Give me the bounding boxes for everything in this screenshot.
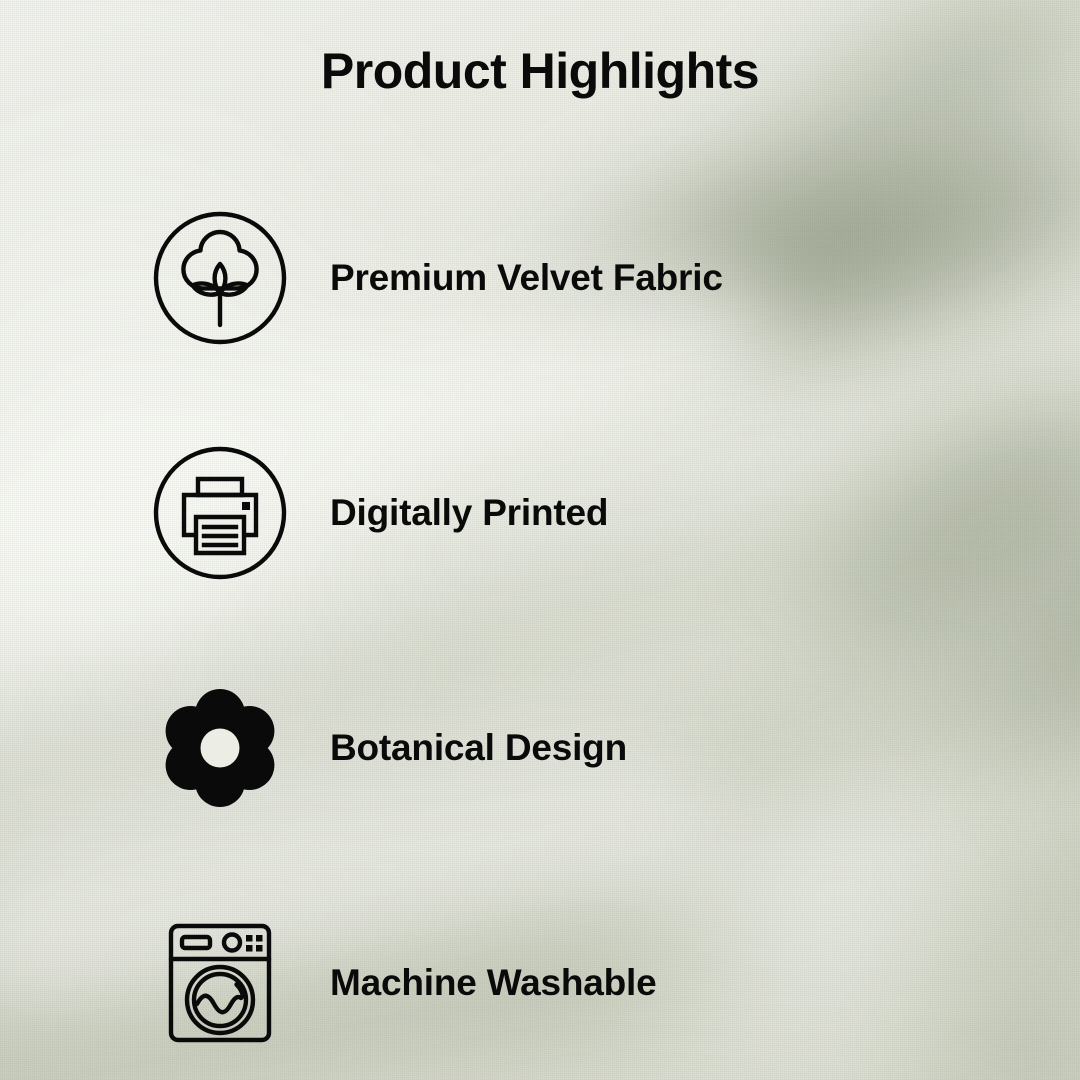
cotton-boll-circle-icon — [150, 208, 290, 348]
feature-row[interactable]: Botanical Design — [0, 630, 1080, 865]
feature-row[interactable]: Machine Washable — [0, 865, 1080, 1080]
feature-label: Digitally Printed — [330, 492, 608, 534]
washing-machine-icon — [150, 913, 290, 1053]
feature-row[interactable]: Digitally Printed — [0, 395, 1080, 630]
feature-label: Botanical Design — [330, 727, 627, 769]
printer-circle-icon — [150, 443, 290, 583]
feature-label: Premium Velvet Fabric — [330, 257, 723, 299]
flower-icon — [150, 678, 290, 818]
feature-list: Premium Velvet Fabric — [0, 160, 1080, 1080]
feature-row[interactable]: Premium Velvet Fabric — [0, 160, 1080, 395]
product-highlights-card: Product Highlights — [0, 0, 1080, 1080]
page-title: Product Highlights — [0, 44, 1080, 99]
feature-label: Machine Washable — [330, 962, 656, 1004]
